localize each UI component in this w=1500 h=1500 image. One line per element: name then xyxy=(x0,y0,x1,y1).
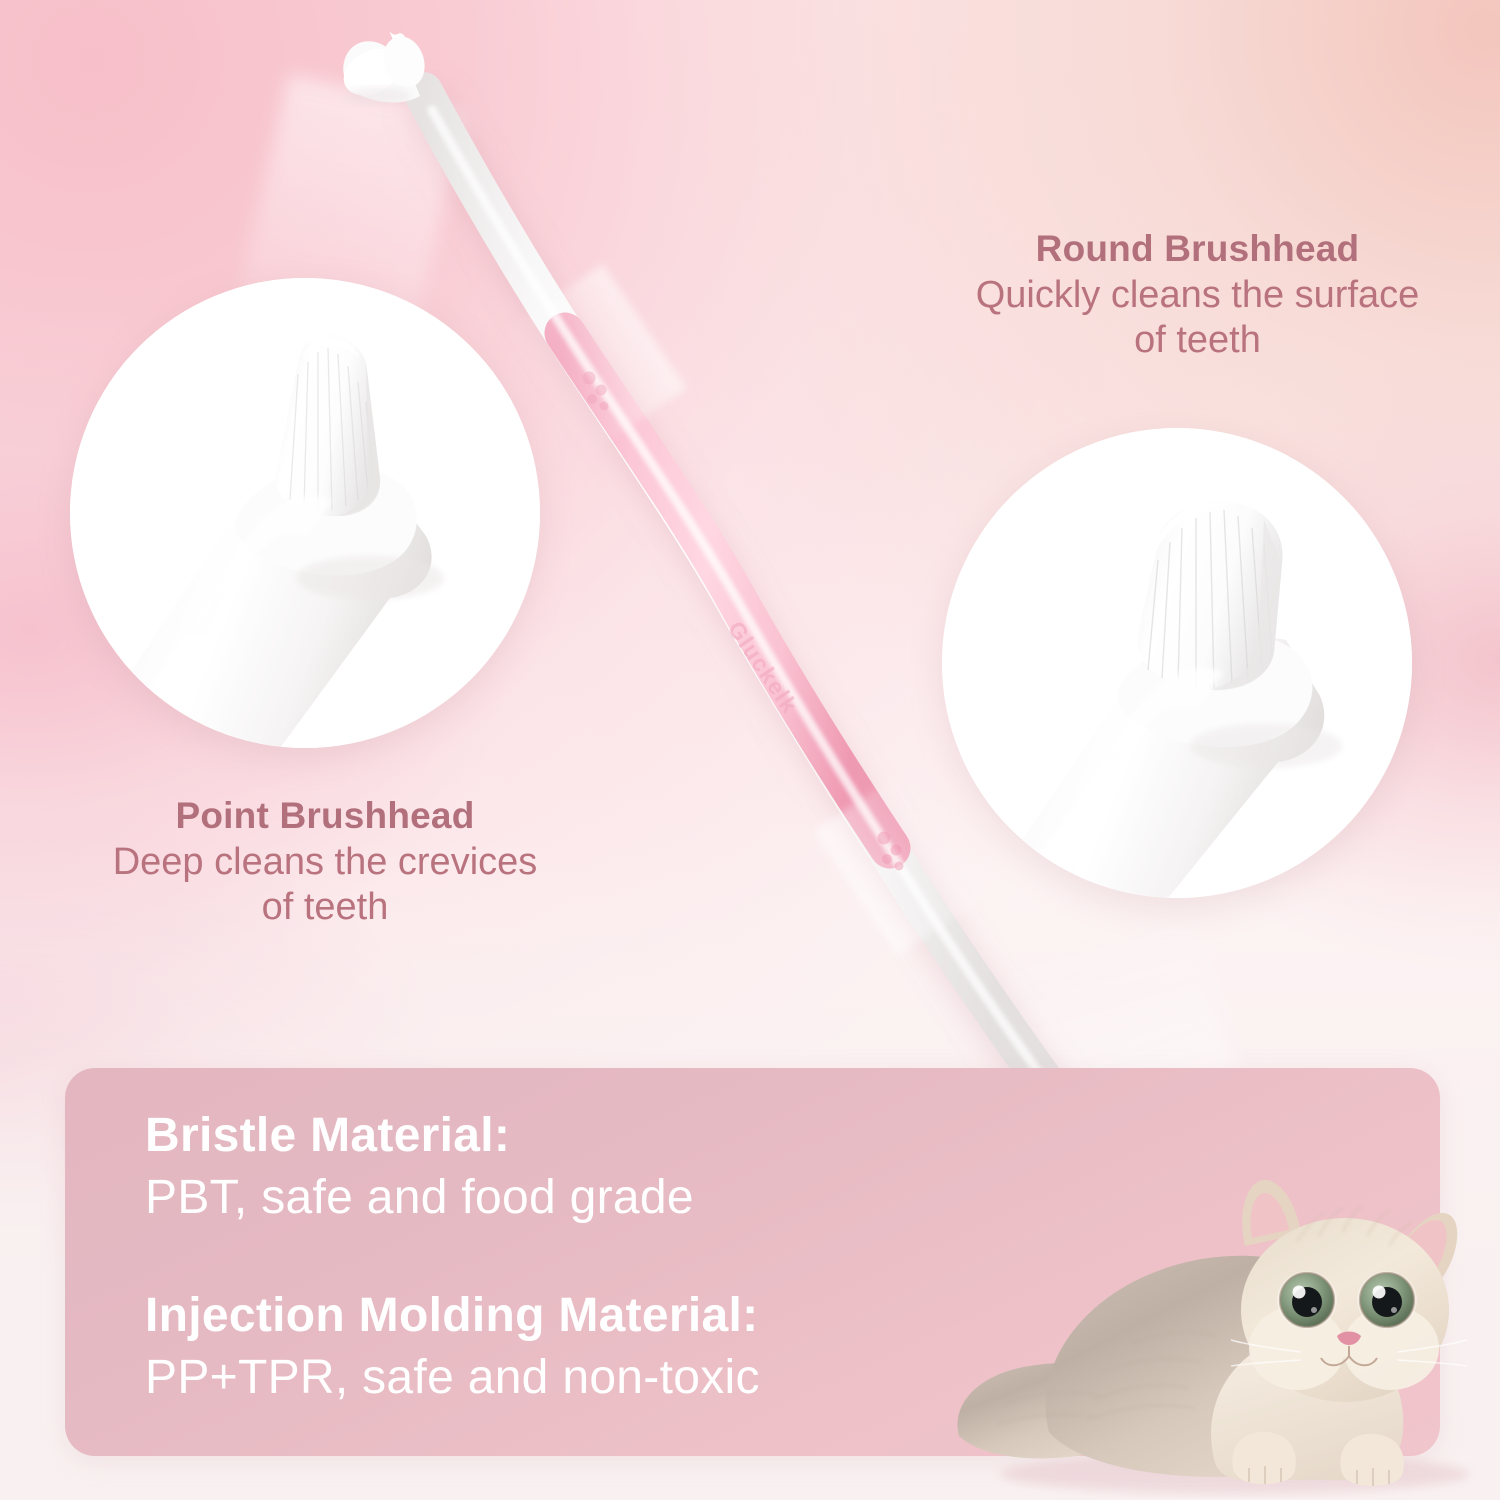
point-brushhead-tip xyxy=(336,31,431,105)
callout-round-brushhead: Round Brushhead Quickly cleans the surfa… xyxy=(905,228,1490,363)
round-brushhead-zoom-art xyxy=(942,428,1412,898)
spec-row-injection: Injection Molding Material: PP+TPR, safe… xyxy=(145,1290,760,1405)
round-brushhead-inset xyxy=(942,428,1412,898)
spec-bristle-value: PBT, safe and food grade xyxy=(145,1172,694,1225)
callout-point-title: Point Brushhead xyxy=(30,795,620,836)
spec-row-bristle: Bristle Material: PBT, safe and food gra… xyxy=(145,1110,694,1225)
point-brushhead-zoom-art xyxy=(70,278,540,748)
callout-round-desc-line1: Quickly cleans the surface xyxy=(905,273,1490,318)
cat-photo xyxy=(945,1168,1490,1500)
callout-point-desc-line1: Deep cleans the crevices xyxy=(30,840,620,885)
spec-bristle-label: Bristle Material: xyxy=(145,1110,694,1163)
callout-point-brushhead: Point Brushhead Deep cleans the crevices… xyxy=(30,795,620,930)
infographic-canvas: Gluckelk xyxy=(0,0,1500,1500)
spec-injection-value: PP+TPR, safe and non-toxic xyxy=(145,1352,760,1405)
callout-round-desc-line2: of teeth xyxy=(905,318,1490,363)
callout-round-title: Round Brushhead xyxy=(905,228,1490,269)
point-brushhead-inset xyxy=(70,278,540,748)
cat-photo-icon xyxy=(945,1168,1490,1500)
callout-point-desc-line2: of teeth xyxy=(30,885,620,930)
spec-injection-label: Injection Molding Material: xyxy=(145,1290,760,1343)
